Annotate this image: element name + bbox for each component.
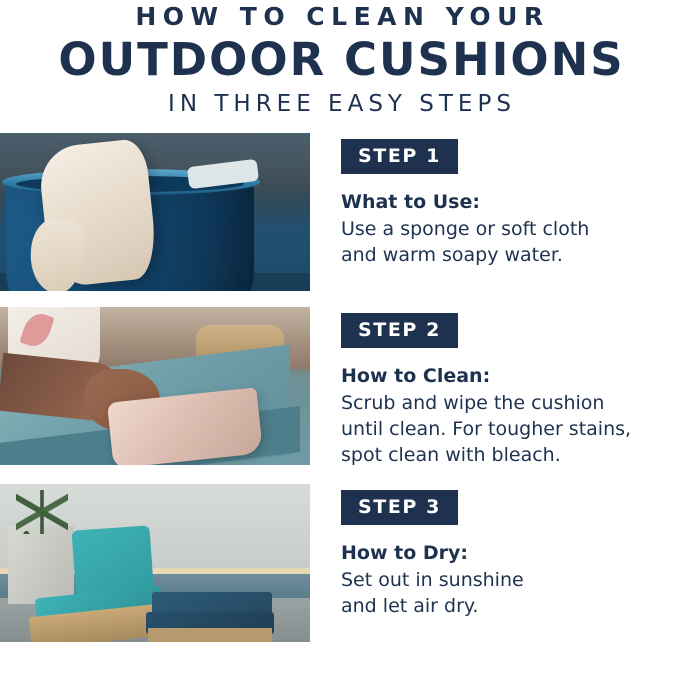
step-body-line: Use a sponge or soft cloth [341, 216, 679, 242]
step-badge: STEP 1 [341, 139, 458, 174]
step-heading: How to Dry: [341, 541, 679, 565]
ottoman-frame-shape [148, 628, 272, 642]
step-text-block: STEP 2 How to Clean: Scrub and wipe the … [310, 307, 679, 468]
hand-wiping-cushion-photo [0, 307, 310, 465]
step-body-line: spot clean with bleach. [341, 442, 679, 468]
step-badge: STEP 2 [341, 313, 458, 348]
step-body-line: and warm soapy water. [341, 242, 679, 268]
page-header: HOW TO CLEAN YOUR OUTDOOR CUSHIONS IN TH… [0, 0, 679, 121]
step-body-line: until clean. For tougher stains, [341, 416, 679, 442]
step-heading: How to Clean: [341, 364, 679, 388]
step-text-block: STEP 3 How to Dry: Set out in sunshine a… [310, 484, 679, 619]
step-body: Scrub and wipe the cushion until clean. … [341, 390, 679, 468]
step-row: STEP 2 How to Clean: Scrub and wipe the … [0, 307, 679, 468]
poolside-lounger-photo [0, 484, 310, 642]
title-line-3: IN THREE EASY STEPS [0, 87, 679, 121]
step-body: Set out in sunshine and let air dry. [341, 567, 679, 619]
planter-shape [8, 526, 74, 604]
steps-list: STEP 1 What to Use: Use a sponge or soft… [0, 133, 679, 642]
step-text-block: STEP 1 What to Use: Use a sponge or soft… [310, 133, 679, 268]
infographic-page: HOW TO CLEAN YOUR OUTDOOR CUSHIONS IN TH… [0, 0, 679, 699]
step-row: STEP 3 How to Dry: Set out in sunshine a… [0, 484, 679, 642]
step-body-line: Scrub and wipe the cushion [341, 390, 679, 416]
step-heading: What to Use: [341, 190, 679, 214]
page-title: OUTDOOR CUSHIONS [0, 32, 679, 87]
plant-shape [16, 490, 68, 534]
step-body: Use a sponge or soft cloth and warm soap… [341, 216, 679, 268]
title-line-1: HOW TO CLEAN YOUR [0, 2, 679, 32]
bucket-with-cloth-photo [0, 133, 310, 291]
step-body-line: Set out in sunshine [341, 567, 679, 593]
step-badge: STEP 3 [341, 490, 458, 525]
step-row: STEP 1 What to Use: Use a sponge or soft… [0, 133, 679, 291]
step-body-line: and let air dry. [341, 593, 679, 619]
